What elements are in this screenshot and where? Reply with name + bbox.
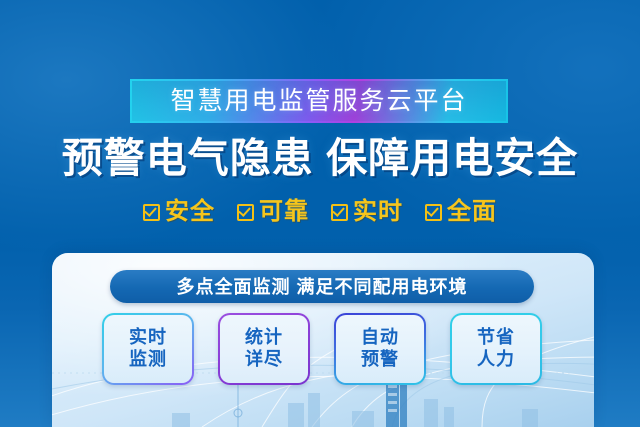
subtitle-pill: 多点全面监测 满足不同配用电环境 bbox=[110, 270, 534, 303]
feature-tag-label: 安全 bbox=[165, 200, 215, 224]
feature-tag-label: 实时 bbox=[353, 200, 403, 224]
check-box-icon bbox=[331, 204, 348, 221]
feature-card-line-1: 节省 bbox=[477, 327, 515, 349]
feature-tag-label: 可靠 bbox=[259, 200, 309, 224]
feature-card-line-1: 统计 bbox=[245, 327, 283, 349]
feature-tag-label: 全面 bbox=[447, 200, 497, 224]
feature-card-line-2: 详尽 bbox=[245, 349, 283, 371]
feature-tag: 全面 bbox=[425, 200, 497, 224]
check-box-icon bbox=[425, 204, 442, 221]
feature-card-save-manpower[interactable]: 节省 人力 bbox=[450, 313, 542, 385]
feature-tag-list: 安全 可靠 实时 全面 bbox=[0, 200, 640, 224]
platform-title-box: 智慧用电监管服务云平台 bbox=[130, 79, 508, 123]
feature-card-line-1: 实时 bbox=[129, 327, 167, 349]
subtitle-pill-text: 多点全面监测 满足不同配用电环境 bbox=[177, 278, 468, 296]
feature-card-detailed-statistics[interactable]: 统计 详尽 bbox=[218, 313, 310, 385]
feature-card-automatic-alert[interactable]: 自动 预警 bbox=[334, 313, 426, 385]
check-box-icon bbox=[143, 204, 160, 221]
feature-card-line-1: 自动 bbox=[361, 327, 399, 349]
check-box-icon bbox=[237, 204, 254, 221]
feature-tag: 安全 bbox=[143, 200, 215, 224]
feature-card-line-2: 监测 bbox=[129, 349, 167, 371]
feature-card-realtime-monitoring[interactable]: 实时 监测 bbox=[102, 313, 194, 385]
feature-card-line-2: 预警 bbox=[361, 349, 399, 371]
feature-tag: 实时 bbox=[331, 200, 403, 224]
feature-card-line-2: 人力 bbox=[477, 349, 515, 371]
platform-title-text: 智慧用电监管服务云平台 bbox=[170, 89, 467, 114]
feature-card-list: 实时 监测 统计 详尽 自动 预警 节省 人力 bbox=[102, 313, 542, 385]
headline-text: 预警电气隐患 保障用电安全 bbox=[0, 136, 640, 180]
promo-banner: 智慧用电监管服务云平台 预警电气隐患 保障用电安全 安全 可靠 实时 全面 bbox=[0, 0, 640, 427]
feature-tag: 可靠 bbox=[237, 200, 309, 224]
